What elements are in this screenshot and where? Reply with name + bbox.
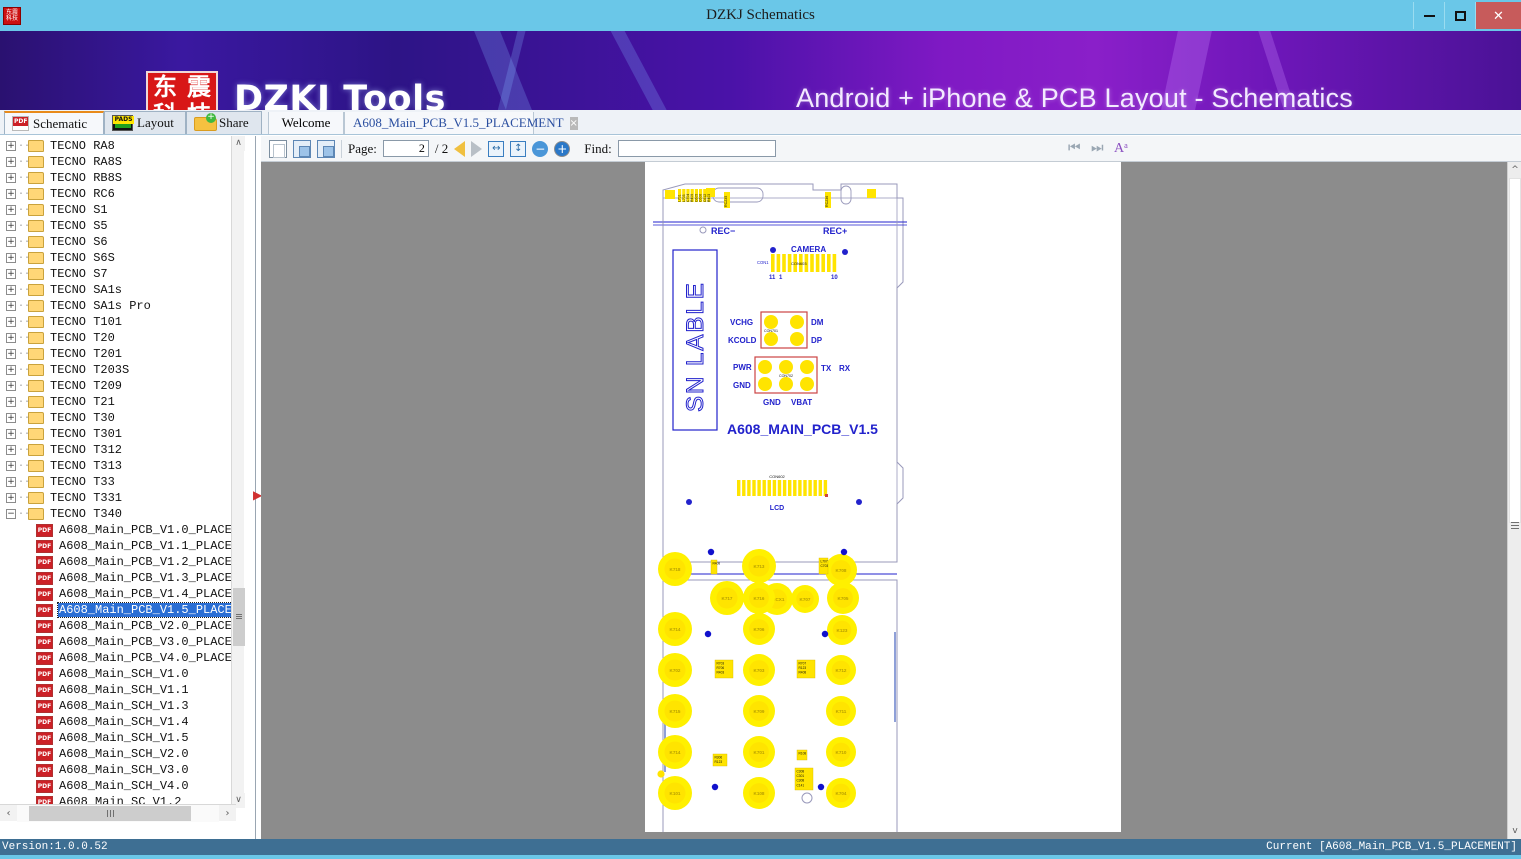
svg-text:CON1: CON1 xyxy=(757,260,769,265)
toolbar-divider xyxy=(341,140,342,158)
svg-text:K717: K717 xyxy=(722,596,733,601)
tree-folder-row-expanded[interactable]: −··TECNO T340 xyxy=(0,506,236,522)
current-file-label: Current [A608_Main_PCB_V1.5_PLACEMENT] xyxy=(1266,841,1517,853)
expand-icon[interactable]: + xyxy=(6,445,16,455)
expand-icon[interactable]: + xyxy=(6,221,16,231)
hscroll-track[interactable] xyxy=(17,805,219,822)
tab-share[interactable]: Share xyxy=(186,111,262,134)
folder-icon xyxy=(28,284,44,296)
svg-text:RX: RX xyxy=(839,364,851,373)
folder-icon xyxy=(28,140,44,152)
expand-icon[interactable]: + xyxy=(6,461,16,471)
tree-folder-row[interactable]: +··TECNO RA8 xyxy=(0,138,236,154)
svg-text:K711: K711 xyxy=(836,709,847,714)
tree-folder-row[interactable]: +··TECNO S1 xyxy=(0,202,236,218)
tree-file-label: A608_Main_SCH_V2.0 xyxy=(58,747,190,761)
version-label: Version:1.0.0.52 xyxy=(2,841,108,853)
tree-folder-row[interactable]: +··TECNO SA1s xyxy=(0,282,236,298)
tree-folder-label: TECNO T33 xyxy=(49,475,116,489)
tree-connector-icon: ·· xyxy=(18,493,28,504)
tree-file-row[interactable]: A608_Main_PCB_V2.0_PLACEMENT xyxy=(0,618,236,634)
svg-text:1: 1 xyxy=(779,275,783,281)
folder-icon xyxy=(28,156,44,168)
svg-text:R408: R408 xyxy=(713,562,721,566)
tree-folder-row[interactable]: +··TECNO T209 xyxy=(0,378,236,394)
tree-folder-label: TECNO S6 xyxy=(49,235,109,249)
svg-text:K716: K716 xyxy=(754,596,765,601)
tree-folder-label: TECNO T21 xyxy=(49,395,116,409)
svg-text:KCOLD: KCOLD xyxy=(728,336,757,345)
folder-icon xyxy=(28,460,44,472)
brand-banner: 东 震 科 技 DZKJ Tools Android + iPhone & PC… xyxy=(0,31,1521,110)
tree-connector-icon: ·· xyxy=(18,445,28,456)
tree-folder-row[interactable]: +··TECNO T201 xyxy=(0,346,236,362)
pdf-icon xyxy=(36,652,53,665)
tree-folder-label: TECNO S6S xyxy=(49,251,116,265)
viewer-scroll-thumb[interactable] xyxy=(1509,178,1521,523)
status-bar: Version:1.0.0.52 Current [A608_Main_PCB_… xyxy=(0,839,1521,859)
pdf-icon xyxy=(36,668,53,681)
tree-file-label: A608_Main_PCB_V1.3_PLACEMENT xyxy=(58,571,236,585)
pads-icon xyxy=(112,115,133,131)
svg-text:C301: C301 xyxy=(797,774,805,778)
pcb-placement-drawing: L701L703C704R405C605C606C612R403RC235RC2… xyxy=(645,162,1121,832)
tree-connector-icon: ·· xyxy=(18,285,28,296)
tree-connector-icon: ·· xyxy=(18,189,28,200)
close-button[interactable]: ✕ xyxy=(1475,2,1521,29)
tab-share-label: Share xyxy=(219,115,249,131)
scroll-grip-icon xyxy=(1511,522,1519,529)
folder-icon xyxy=(28,508,44,520)
pdf-icon xyxy=(12,116,29,131)
expand-icon[interactable]: + xyxy=(6,205,16,215)
scroll-left-icon[interactable]: ‹ xyxy=(0,805,17,822)
tree-file-label: A608_Main_SCH_V1.3 xyxy=(58,699,190,713)
expand-icon[interactable]: + xyxy=(6,189,16,199)
window-title: DZKJ Schematics xyxy=(0,7,1521,24)
page-input[interactable]: 2 xyxy=(383,140,429,157)
tree-file-row[interactable]: A608_Main_PCB_V3.0_PLACEMENT xyxy=(0,634,236,650)
svg-text:RC236: RC236 xyxy=(825,196,829,207)
pdf-icon xyxy=(36,540,53,553)
svg-text:K702: K702 xyxy=(670,668,681,673)
tree-connector-icon: ·· xyxy=(18,237,28,248)
tree-folder-label: TECNO SA1s xyxy=(49,283,123,297)
tree-file-row[interactable]: A608_Main_PCB_V1.2_PLACEMENT xyxy=(0,554,236,570)
expand-icon[interactable]: + xyxy=(6,397,16,407)
tab-layout[interactable]: Layout xyxy=(104,111,186,134)
doc-tab-welcome[interactable]: Welcome xyxy=(268,112,344,134)
pdf-icon xyxy=(36,572,53,585)
expand-icon[interactable]: + xyxy=(6,285,16,295)
expand-icon[interactable]: + xyxy=(6,349,16,359)
application-window: 东震科技 DZKJ Schematics ✕ 东 震 科 技 DZKJ Tool… xyxy=(0,0,1521,859)
close-icon[interactable]: × xyxy=(570,117,578,130)
tree-file-label: A608_Main_PCB_V1.2_PLACEMENT xyxy=(58,555,236,569)
svg-text:C308: C308 xyxy=(797,779,805,783)
page-label: Page: xyxy=(348,141,377,157)
tree-folder-label: TECNO T201 xyxy=(49,347,123,361)
svg-text:REC−: REC− xyxy=(711,226,735,236)
tree-folder-row[interactable]: +··TECNO SA1s Pro xyxy=(0,298,236,314)
svg-text:R703: R703 xyxy=(717,662,725,666)
collapse-icon[interactable]: − xyxy=(6,509,16,519)
svg-text:GND: GND xyxy=(763,398,781,407)
next-page-icon[interactable] xyxy=(471,141,482,157)
folder-icon xyxy=(28,396,44,408)
pdf-icon xyxy=(36,748,53,761)
tree-connector-icon: ·· xyxy=(18,461,28,472)
fit-page-icon[interactable]: ↕ xyxy=(510,141,526,157)
tree-file-row[interactable]: A608_Main_SCH_V1.3 xyxy=(0,698,236,714)
svg-text:K712: K712 xyxy=(836,668,847,673)
pdf-icon xyxy=(36,556,53,569)
folder-icon xyxy=(28,252,44,264)
brand-title: DZKJ Tools xyxy=(234,79,446,110)
pdf-icon xyxy=(36,620,53,633)
tree-connector-icon: ·· xyxy=(18,429,28,440)
tree-connector-icon: ·· xyxy=(18,477,28,488)
pdf-icon xyxy=(36,684,53,697)
tree-connector-icon: ·· xyxy=(18,205,28,216)
folder-icon xyxy=(28,332,44,344)
tree-folder-label: TECNO RA8S xyxy=(49,155,123,169)
folder-icon xyxy=(28,380,44,392)
svg-text:CON701: CON701 xyxy=(764,329,778,333)
svg-text:K718: K718 xyxy=(670,567,681,572)
tree-folder-label: TECNO S5 xyxy=(49,219,109,233)
maximize-button[interactable] xyxy=(1444,2,1475,29)
tree-folder-label: TECNO T101 xyxy=(49,315,123,329)
tree-file-label: A608_Main_SCH_V4.0 xyxy=(58,779,190,793)
expand-icon[interactable]: + xyxy=(6,381,16,391)
tree-file-row[interactable]: A608_Main_SCH_V2.0 xyxy=(0,746,236,762)
tree-folder-label: TECNO T203S xyxy=(49,363,130,377)
doc-tab-placement[interactable]: A608_Main_PCB_V1.5_PLACEMENT × xyxy=(344,112,534,134)
tree-folder-row[interactable]: +··TECNO T331 xyxy=(0,490,236,506)
expand-icon[interactable]: + xyxy=(6,317,16,327)
share-folder-icon xyxy=(194,115,215,131)
pdf-icon xyxy=(36,764,53,777)
folder-icon xyxy=(28,364,44,376)
logo-char: 科 xyxy=(148,101,182,110)
svg-text:10: 10 xyxy=(831,275,838,281)
expand-icon[interactable]: + xyxy=(6,253,16,263)
expand-icon[interactable]: + xyxy=(6,157,16,167)
scroll-up-icon[interactable]: ^ xyxy=(1508,162,1521,178)
tree-folder-label: TECNO T20 xyxy=(49,331,116,345)
folder-icon xyxy=(28,428,44,440)
svg-text:RC235: RC235 xyxy=(724,196,728,207)
svg-text:K706: K706 xyxy=(754,627,765,632)
find-next-icon[interactable]: ⏭ xyxy=(1091,141,1108,156)
folder-icon xyxy=(28,236,44,248)
tree-file-row[interactable]: A608_Main_SCH_V1.5 xyxy=(0,730,236,746)
tree-connector-icon: ·· xyxy=(18,141,28,152)
folder-icon xyxy=(28,444,44,456)
tree-connector-icon: ·· xyxy=(18,269,28,280)
expand-icon[interactable]: + xyxy=(6,269,16,279)
tree-file-label: A608_Main_SCH_V1.0 xyxy=(58,667,190,681)
svg-text:R706: R706 xyxy=(717,666,725,670)
folder-icon xyxy=(28,348,44,360)
expand-icon[interactable]: + xyxy=(6,477,16,487)
folder-icon xyxy=(28,492,44,504)
pdf-icon xyxy=(36,636,53,649)
tree-folder-row[interactable]: +··TECNO T312 xyxy=(0,442,236,458)
maximize-icon xyxy=(1455,11,1466,21)
find-options-icon[interactable]: Aᵃ xyxy=(1114,141,1131,156)
tree-file-row[interactable]: A608_Main_PCB_V1.4_PLACEMENT xyxy=(0,586,236,602)
tree-file-row[interactable]: A608_Main_SCH_V4.0 xyxy=(0,778,236,794)
svg-text:LCD: LCD xyxy=(770,505,784,512)
tree-file-row[interactable]: A608_Main_PCB_V1.5_PLACEMENT xyxy=(0,602,236,618)
expand-icon[interactable]: + xyxy=(6,173,16,183)
svg-text:R403: R403 xyxy=(707,194,711,202)
svg-text:REC+: REC+ xyxy=(823,226,847,236)
tree-folder-label: TECNO SA1s Pro xyxy=(49,299,152,313)
pdf-icon xyxy=(36,588,53,601)
svg-text:11: 11 xyxy=(769,275,776,281)
folder-icon xyxy=(28,300,44,312)
expand-icon[interactable]: + xyxy=(6,141,16,151)
select-region-icon[interactable] xyxy=(293,140,311,158)
copy-icon[interactable] xyxy=(269,140,287,158)
tree-connector-icon: ·· xyxy=(18,381,28,392)
pdf-icon xyxy=(36,732,53,745)
svg-text:SN LABLE: SN LABLE xyxy=(682,281,709,412)
expand-icon[interactable]: + xyxy=(6,301,16,311)
pdf-icon xyxy=(36,524,53,537)
tree-folder-row[interactable]: +··TECNO S6 xyxy=(0,234,236,250)
tree-folder-row[interactable]: +··TECNO T33 xyxy=(0,474,236,490)
pdf-page: L701L703C704R405C605C606C612R403RC235RC2… xyxy=(645,162,1121,832)
logo-char: 震 xyxy=(182,73,216,101)
tree-connector-icon: ·· xyxy=(18,157,28,168)
tree-file-label: A608_Main_PCB_V1.4_PLACEMENT xyxy=(58,587,236,601)
minimize-button[interactable] xyxy=(1413,2,1444,29)
banner-beam xyxy=(600,31,688,110)
tree-file-label: A608_Main_PCB_V1.1_PLACEMENT xyxy=(58,539,236,553)
doc-tab-placement-label: A608_Main_PCB_V1.5_PLACEMENT xyxy=(353,115,564,131)
svg-text:A608_MAIN_PCB_V1.5: A608_MAIN_PCB_V1.5 xyxy=(727,421,878,437)
svg-text:DM: DM xyxy=(811,318,824,327)
tree-folder-row[interactable]: +··TECNO T101 xyxy=(0,314,236,330)
logo-char: 东 xyxy=(148,73,182,101)
tree-folder-row[interactable]: +··TECNO S7 xyxy=(0,266,236,282)
svg-text:K715: K715 xyxy=(670,709,681,714)
scroll-grip-icon xyxy=(107,810,114,817)
tree-folder-row[interactable]: +··TECNO T203S xyxy=(0,362,236,378)
svg-text:CON603: CON603 xyxy=(791,261,807,266)
tab-schematic[interactable]: Schematic xyxy=(4,111,104,134)
pdf-icon xyxy=(36,716,53,729)
tree-connector-icon: ·· xyxy=(18,317,28,328)
tree-file-label: A608_Main_PCB_V3.0_PLACEMENT xyxy=(58,635,236,649)
expand-icon[interactable]: + xyxy=(6,333,16,343)
svg-text:R123: R123 xyxy=(799,666,807,670)
tree-connector-icon: ·· xyxy=(18,413,28,424)
expand-icon[interactable]: + xyxy=(6,429,16,439)
tree-folder-label: TECNO T313 xyxy=(49,459,123,473)
tree-connector-icon: ·· xyxy=(18,509,28,520)
svg-text:R403: R403 xyxy=(717,671,725,675)
tree-folder-label: TECNO T301 xyxy=(49,427,123,441)
tree-folder-label: TECNO S7 xyxy=(49,267,109,281)
tree-file-label: A608_Main_SCH_V1.1 xyxy=(58,683,190,697)
tree-folder-label: TECNO T312 xyxy=(49,443,123,457)
folder-icon xyxy=(28,476,44,488)
tree-file-row[interactable]: A608_Main_SCH_V1.0 xyxy=(0,666,236,682)
scroll-right-icon[interactable]: › xyxy=(219,805,236,822)
minimize-icon xyxy=(1424,15,1435,17)
find-previous-icon[interactable]: ⏮ xyxy=(1068,141,1085,156)
tree-file-row[interactable]: A608_Main_SCH_V1.4 xyxy=(0,714,236,730)
file-tree[interactable]: +··TECNO RA8+··TECNO RA8S+··TECNO RB8S+·… xyxy=(0,136,236,808)
tree-file-row[interactable]: A608_Main_PCB_V4.0_PLACEMENT xyxy=(0,650,236,666)
svg-text:VCHG: VCHG xyxy=(730,318,753,327)
svg-text:R707: R707 xyxy=(799,662,807,666)
scroll-up-icon[interactable]: ∧ xyxy=(232,136,245,151)
tree-folder-row[interactable]: +··TECNO RA8S xyxy=(0,154,236,170)
tree-folder-label: TECNO RC6 xyxy=(49,187,116,201)
folder-icon xyxy=(28,316,44,328)
tab-strip: Schematic Layout Share Welcome A608_Main… xyxy=(0,110,1521,135)
svg-text:GND: GND xyxy=(733,381,751,390)
svg-text:K703: K703 xyxy=(754,668,765,673)
svg-text:DP: DP xyxy=(811,336,823,345)
svg-text:K714: K714 xyxy=(670,627,681,632)
folder-icon xyxy=(28,172,44,184)
find-label: Find: xyxy=(584,141,611,157)
tree-folder-row[interactable]: +··TECNO T313 xyxy=(0,458,236,474)
svg-text:K713: K713 xyxy=(754,564,765,569)
tree-connector-icon: ·· xyxy=(18,365,28,376)
expand-icon[interactable]: + xyxy=(6,365,16,375)
tree-file-label: A608_Main_PCB_V1.0_PLACEMENT xyxy=(58,523,236,537)
tree-file-label: A608_Main_PCB_V1.5_PLACEMENT xyxy=(58,603,236,617)
svg-text:K101: K101 xyxy=(670,791,681,796)
svg-text:R408: R408 xyxy=(799,671,807,675)
expand-icon[interactable]: + xyxy=(6,237,16,247)
tree-file-row[interactable]: A608_Main_PCB_V1.0_PLACEMENT xyxy=(0,522,236,538)
tree-folder-label: TECNO RA8 xyxy=(49,139,116,153)
zoom-in-icon[interactable]: + xyxy=(554,141,570,157)
svg-text:R108: R108 xyxy=(799,752,807,756)
tree-folder-row[interactable]: +··TECNO T20 xyxy=(0,330,236,346)
tree-folder-label: TECNO T331 xyxy=(49,491,123,505)
tree-file-label: A608_Main_SCH_V3.0 xyxy=(58,763,190,777)
viewer-vertical-scrollbar[interactable]: ^ v xyxy=(1507,162,1521,839)
tree-connector-icon: ·· xyxy=(18,333,28,344)
tree-file-row[interactable]: A608_Main_PCB_V1.3_PLACEMENT xyxy=(0,570,236,586)
tree-file-row[interactable]: A608_Main_PCB_V1.1_PLACEMENT xyxy=(0,538,236,554)
svg-text:K714: K714 xyxy=(670,750,681,755)
svg-text:TX: TX xyxy=(821,364,832,373)
svg-text:C308: C308 xyxy=(797,770,805,774)
tree-folder-row[interactable]: +··TECNO S5 xyxy=(0,218,236,234)
find-input[interactable] xyxy=(618,140,776,157)
expand-icon[interactable]: + xyxy=(6,493,16,503)
svg-text:K704: K704 xyxy=(836,791,847,796)
status-accent-strip xyxy=(0,855,1521,859)
fit-width-icon[interactable]: ↔ xyxy=(488,141,504,157)
pdf-icon xyxy=(36,700,53,713)
svg-text:K708: K708 xyxy=(836,568,847,573)
svg-text:C703: C703 xyxy=(821,564,829,568)
tree-file-label: A608_Main_PCB_V2.0_PLACEMENT xyxy=(58,619,236,633)
folder-icon xyxy=(28,188,44,200)
pdf-viewer-toolbar: Page: 2 / 2 ↔ ↕ − + Find: ⏮ ⏭ Aᵃ xyxy=(261,136,1521,162)
tree-folder-label: TECNO T30 xyxy=(49,411,116,425)
zoom-out-icon[interactable]: − xyxy=(532,141,548,157)
tree-folder-row[interactable]: +··TECNO T30 xyxy=(0,410,236,426)
folder-icon xyxy=(28,204,44,216)
hscroll-thumb[interactable] xyxy=(29,806,191,821)
title-bar: 东震科技 DZKJ Schematics ✕ xyxy=(0,0,1521,31)
pdf-icon xyxy=(36,780,53,793)
scroll-down-icon[interactable]: v xyxy=(1508,823,1521,839)
svg-text:K123: K123 xyxy=(837,628,848,633)
folder-icon xyxy=(28,268,44,280)
svg-text:R123: R123 xyxy=(715,760,723,764)
svg-text:K707: K707 xyxy=(800,597,811,602)
tree-folder-row[interactable]: +··TECNO RB8S xyxy=(0,170,236,186)
tree-connector-icon: ·· xyxy=(18,173,28,184)
dzkj-brand-logo: 东 震 科 技 xyxy=(146,71,218,110)
svg-text:CON702: CON702 xyxy=(779,374,793,378)
file-tree-panel: +··TECNO RA8+··TECNO RA8S+··TECNO RB8S+·… xyxy=(0,136,256,839)
window-controls: ✕ xyxy=(1413,0,1521,31)
previous-page-icon[interactable] xyxy=(454,141,465,157)
doc-tab-welcome-label: Welcome xyxy=(282,115,331,131)
tree-folder-label: TECNO T340 xyxy=(49,507,123,521)
page-total: / 2 xyxy=(435,141,448,157)
tree-scroll-thumb[interactable] xyxy=(233,588,245,646)
tree-folder-row[interactable]: +··TECNO RC6 xyxy=(0,186,236,202)
tree-folder-row[interactable]: +··TECNO S6S xyxy=(0,250,236,266)
tab-layout-label: Layout xyxy=(137,115,174,131)
tree-file-label: A608_Main_SCH_V1.5 xyxy=(58,731,190,745)
svg-text:L707: L707 xyxy=(821,560,828,564)
tree-folder-label: TECNO T209 xyxy=(49,379,123,393)
svg-text:CAMERA: CAMERA xyxy=(791,245,826,254)
tree-connector-icon: ·· xyxy=(18,253,28,264)
folder-icon xyxy=(28,220,44,232)
tree-connector-icon: ·· xyxy=(18,301,28,312)
splitter-collapse-icon[interactable]: ▶ xyxy=(253,489,261,501)
tree-file-label: A608_Main_PCB_V4.0_PLACEMENT xyxy=(58,651,236,665)
expand-icon[interactable]: + xyxy=(6,413,16,423)
tree-horizontal-scrollbar[interactable]: ‹ › xyxy=(0,804,236,821)
tree-connector-icon: ·· xyxy=(18,397,28,408)
snapshot-icon[interactable] xyxy=(317,140,335,158)
svg-text:K709: K709 xyxy=(754,709,765,714)
tree-folder-label: TECNO RB8S xyxy=(49,171,123,185)
svg-text:PWR: PWR xyxy=(733,363,752,372)
tree-file-row[interactable]: A608_Main_SCH_V1.1 xyxy=(0,682,236,698)
svg-text:R306: R306 xyxy=(715,756,723,760)
pdf-viewer-area[interactable]: L701L703C704R405C605C606C612R403RC235RC2… xyxy=(261,162,1521,839)
tree-folder-row[interactable]: +··TECNO T21 xyxy=(0,394,236,410)
tree-folder-row[interactable]: +··TECNO T301 xyxy=(0,426,236,442)
tree-file-row[interactable]: A608_Main_SCH_V3.0 xyxy=(0,762,236,778)
svg-text:K108: K108 xyxy=(754,791,765,796)
svg-text:CON602: CON602 xyxy=(769,474,785,479)
tree-vertical-scrollbar[interactable]: ∧ ∨ xyxy=(231,136,244,808)
folder-icon xyxy=(28,412,44,424)
svg-text:K701: K701 xyxy=(754,750,765,755)
